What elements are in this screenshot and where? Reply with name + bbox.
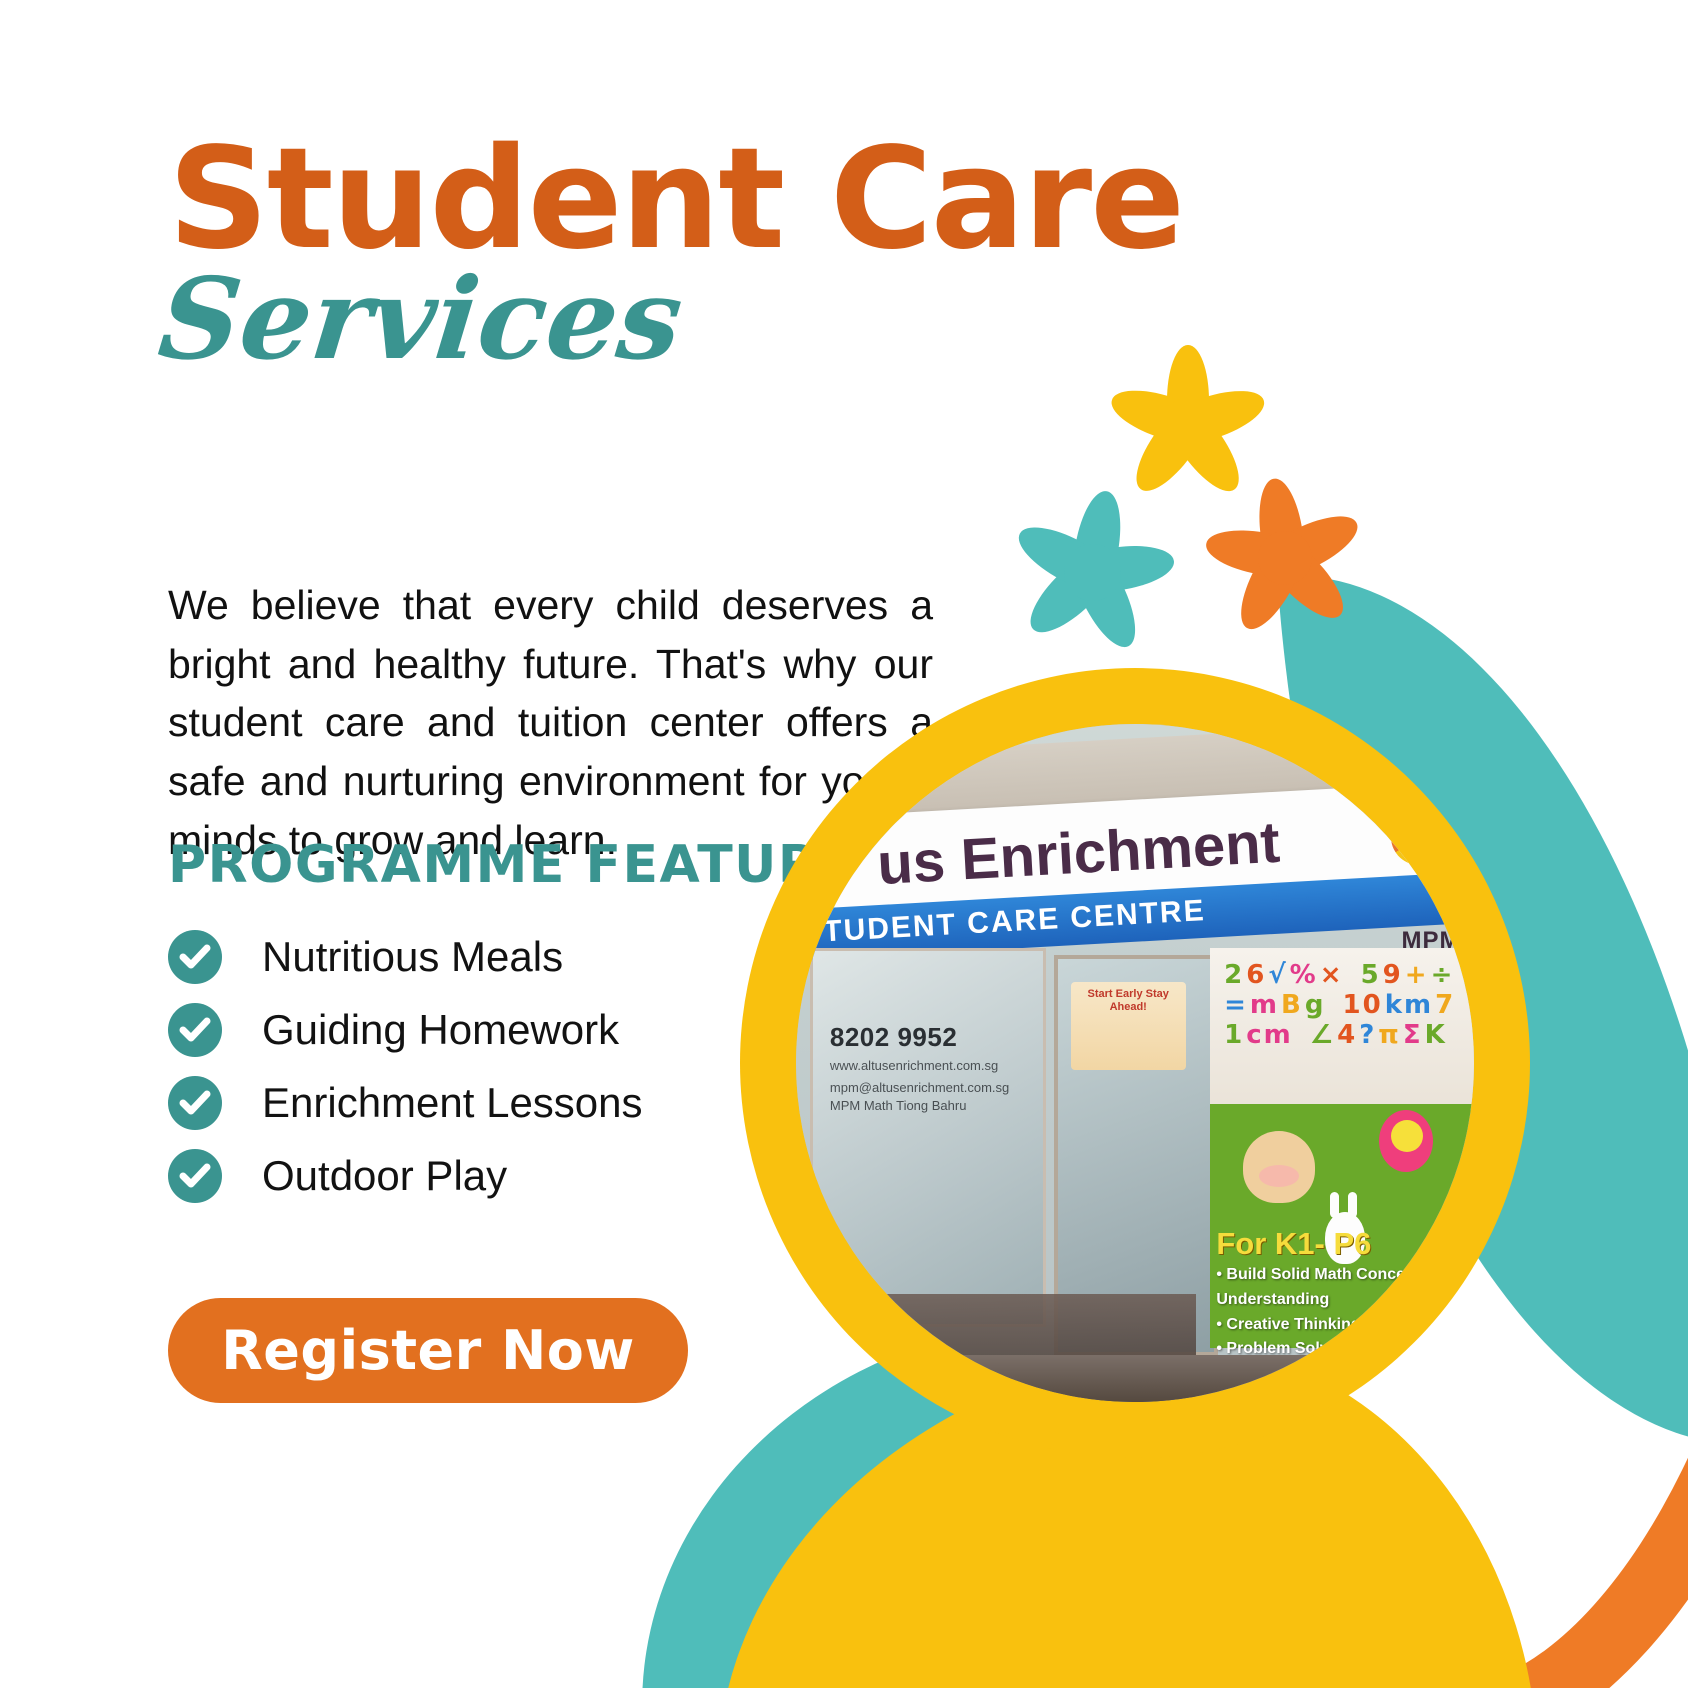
list-item: Outdoor Play: [168, 1139, 808, 1212]
photo-ground: [796, 1355, 1474, 1402]
flower-orange-icon: [1205, 478, 1365, 638]
feature-label: Guiding Homework: [262, 1006, 619, 1054]
list-item: Guiding Homework: [168, 993, 808, 1066]
list-item: Nutritious Meals: [168, 920, 808, 993]
check-icon: [168, 1003, 222, 1057]
photo-ring: us Enrichment TUDENT CARE CENTRE 8202 99…: [740, 668, 1530, 1458]
programme-feature-heading: PROGRAMME FEATURE:: [168, 835, 879, 895]
list-item: Enrichment Lessons: [168, 1066, 808, 1139]
storefront-photo: us Enrichment TUDENT CARE CENTRE 8202 99…: [796, 724, 1474, 1402]
poster-canvas: Student Care Services We believe that ev…: [0, 0, 1688, 1688]
photo-contact-block: 8202 9952 www.altusenrichment.com.sg mpm…: [830, 1022, 1033, 1113]
feature-label: Enrichment Lessons: [262, 1079, 643, 1127]
check-icon: [168, 1149, 222, 1203]
photo-math-symbols: 26√%× 59+÷=mBg 10km71cm ∠4?πΣK: [1223, 961, 1467, 1103]
photo-bullet: • Build Solid Math Concept Understanding: [1216, 1263, 1467, 1313]
photo-bullet-list: • Build Solid Math Concept Understanding…: [1216, 1263, 1467, 1362]
flower-teal-icon: [1010, 490, 1175, 655]
feature-label: Outdoor Play: [262, 1152, 507, 1200]
headline-block: Student Care Services: [168, 130, 1183, 376]
feature-label: Nutritious Meals: [262, 933, 563, 981]
photo-for-kids-text: For K1- P6: [1216, 1226, 1467, 1262]
photo-door-poster: Start Early Stay Ahead!: [1071, 982, 1186, 1070]
photo-website: www.altusenrichment.com.sg: [830, 1058, 1033, 1073]
pig-character-icon: [1243, 1131, 1315, 1203]
photo-left-window: [810, 948, 1047, 1327]
photo-brand-right: MPM: [1401, 927, 1460, 955]
check-icon: [168, 1076, 222, 1130]
photo-bullet: • Creative Thinking: [1216, 1313, 1467, 1338]
register-now-button[interactable]: Register Now: [168, 1298, 688, 1403]
page-title: Student Care: [168, 130, 1183, 270]
photo-email: mpm@altusenrichment.com.sg: [830, 1080, 1033, 1095]
page-subtitle: Services: [154, 264, 1189, 376]
programme-feature-list: Nutritious Meals Guiding Homework Enrich…: [168, 920, 808, 1212]
photo-phone: 8202 9952: [830, 1022, 1033, 1053]
photo-facebook: MPM Math Tiong Bahru: [830, 1098, 1033, 1113]
check-icon: [168, 930, 222, 984]
